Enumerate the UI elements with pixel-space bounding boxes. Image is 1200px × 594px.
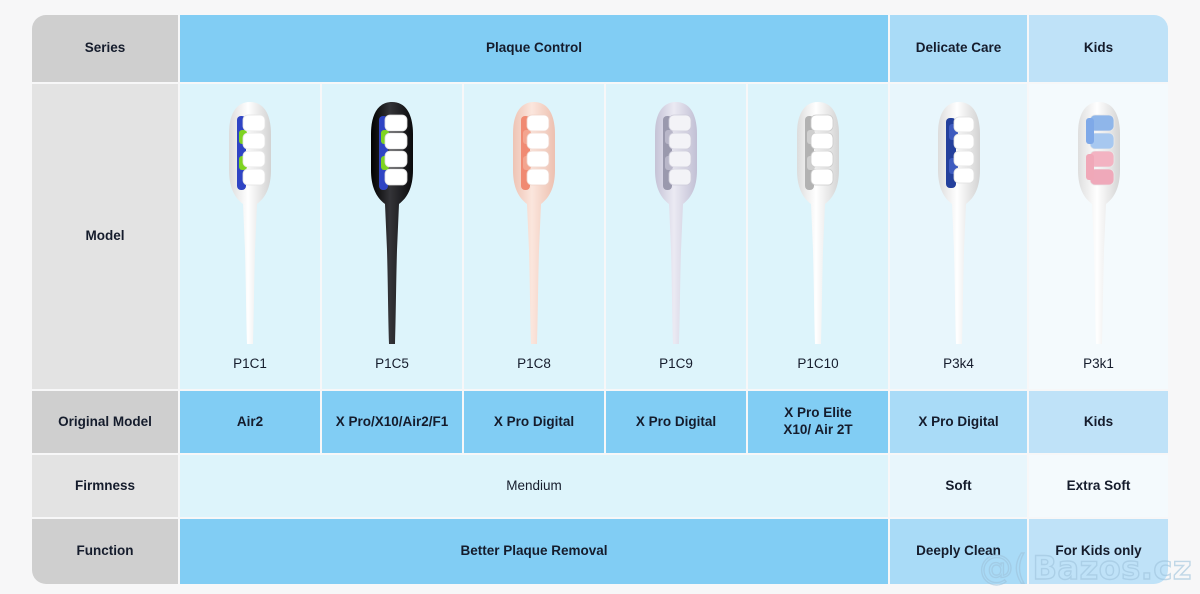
- model-cell-p1c5: P1C5: [322, 84, 462, 389]
- brush-image-p1c8: [470, 86, 598, 352]
- function-p3k1: For Kids only: [1029, 519, 1168, 584]
- original-model-p1c10: X Pro Elite X10/ Air 2T: [748, 391, 888, 453]
- model-cell-p1c1: P1C1: [180, 84, 320, 389]
- brush-image-p3k4: [896, 86, 1021, 352]
- brush-image-p1c10: [754, 86, 882, 352]
- function-p3k4: Deeply Clean: [890, 519, 1027, 584]
- model-name: P1C5: [375, 352, 409, 373]
- comparison-table: Series Plaque Control Delicate Care Kids…: [32, 15, 1168, 578]
- model-cell-p1c10: P1C10: [748, 84, 888, 389]
- table-grid: Series Plaque Control Delicate Care Kids…: [32, 15, 1168, 578]
- original-model-p1c9: X Pro Digital: [606, 391, 746, 453]
- model-cell-p3k4: P3k4: [890, 84, 1027, 389]
- original-model-p3k4: X Pro Digital: [890, 391, 1027, 453]
- row-label-series: Series: [32, 15, 178, 82]
- model-cell-p1c8: P1C8: [464, 84, 604, 389]
- series-group-delicate-care: Delicate Care: [890, 15, 1027, 82]
- series-group-plaque-control: Plaque Control: [180, 15, 888, 82]
- model-name: P3k1: [1083, 352, 1114, 373]
- original-model-p1c8: X Pro Digital: [464, 391, 604, 453]
- row-label-model: Model: [32, 84, 178, 389]
- model-name: P1C10: [797, 352, 838, 373]
- model-name: P3k4: [943, 352, 974, 373]
- function-group-plaque: Better Plaque Removal: [180, 519, 888, 584]
- model-cell-p3k1: P3k1: [1029, 84, 1168, 389]
- firmness-p3k4: Soft: [890, 455, 1027, 517]
- brush-image-p1c9: [612, 86, 740, 352]
- original-model-p3k1: Kids: [1029, 391, 1168, 453]
- series-group-kids: Kids: [1029, 15, 1168, 82]
- model-name: P1C8: [517, 352, 551, 373]
- brush-image-p1c5: [328, 86, 456, 352]
- firmness-group-mendium: Mendium: [180, 455, 888, 517]
- model-cell-p1c9: P1C9: [606, 84, 746, 389]
- firmness-p3k1: Extra Soft: [1029, 455, 1168, 517]
- brush-image-p3k1: [1035, 86, 1162, 352]
- row-label-original-model: Original Model: [32, 391, 178, 453]
- original-model-p1c5: X Pro/X10/Air2/F1: [322, 391, 462, 453]
- model-name: P1C1: [233, 352, 267, 373]
- original-model-p1c1: Air2: [180, 391, 320, 453]
- row-label-firmness: Firmness: [32, 455, 178, 517]
- row-label-function: Function: [32, 519, 178, 584]
- model-name: P1C9: [659, 352, 693, 373]
- brush-image-p1c1: [186, 86, 314, 352]
